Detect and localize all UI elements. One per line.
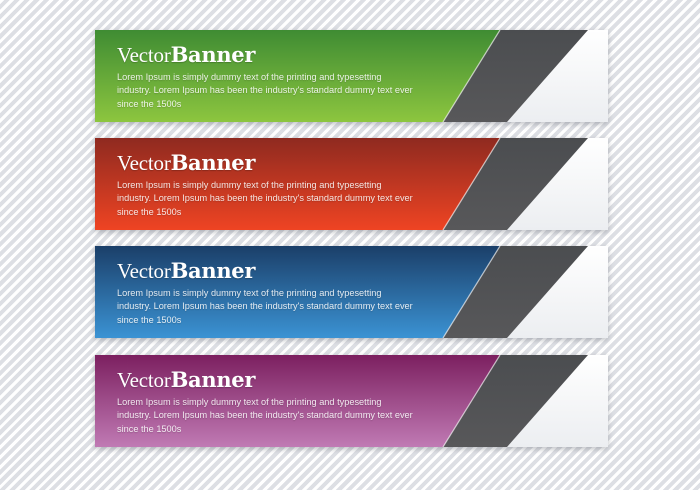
banner-accent-panel [95, 246, 500, 338]
banner-stage: VectorBanner Lorem Ipsum is simply dummy… [0, 0, 700, 490]
banner-purple[interactable]: VectorBanner Lorem Ipsum is simply dummy… [95, 355, 608, 447]
banner-purple-shape [95, 355, 608, 447]
banner-green[interactable]: VectorBanner Lorem Ipsum is simply dummy… [95, 30, 608, 122]
banner-red-shape [95, 138, 608, 230]
banner-red[interactable]: VectorBanner Lorem Ipsum is simply dummy… [95, 138, 608, 230]
banner-blue[interactable]: VectorBanner Lorem Ipsum is simply dummy… [95, 246, 608, 338]
banner-accent-panel [95, 138, 500, 230]
banner-accent-panel [95, 355, 500, 447]
banner-accent-panel [95, 30, 500, 122]
banner-blue-shape [95, 246, 608, 338]
banner-green-shape [95, 30, 608, 122]
